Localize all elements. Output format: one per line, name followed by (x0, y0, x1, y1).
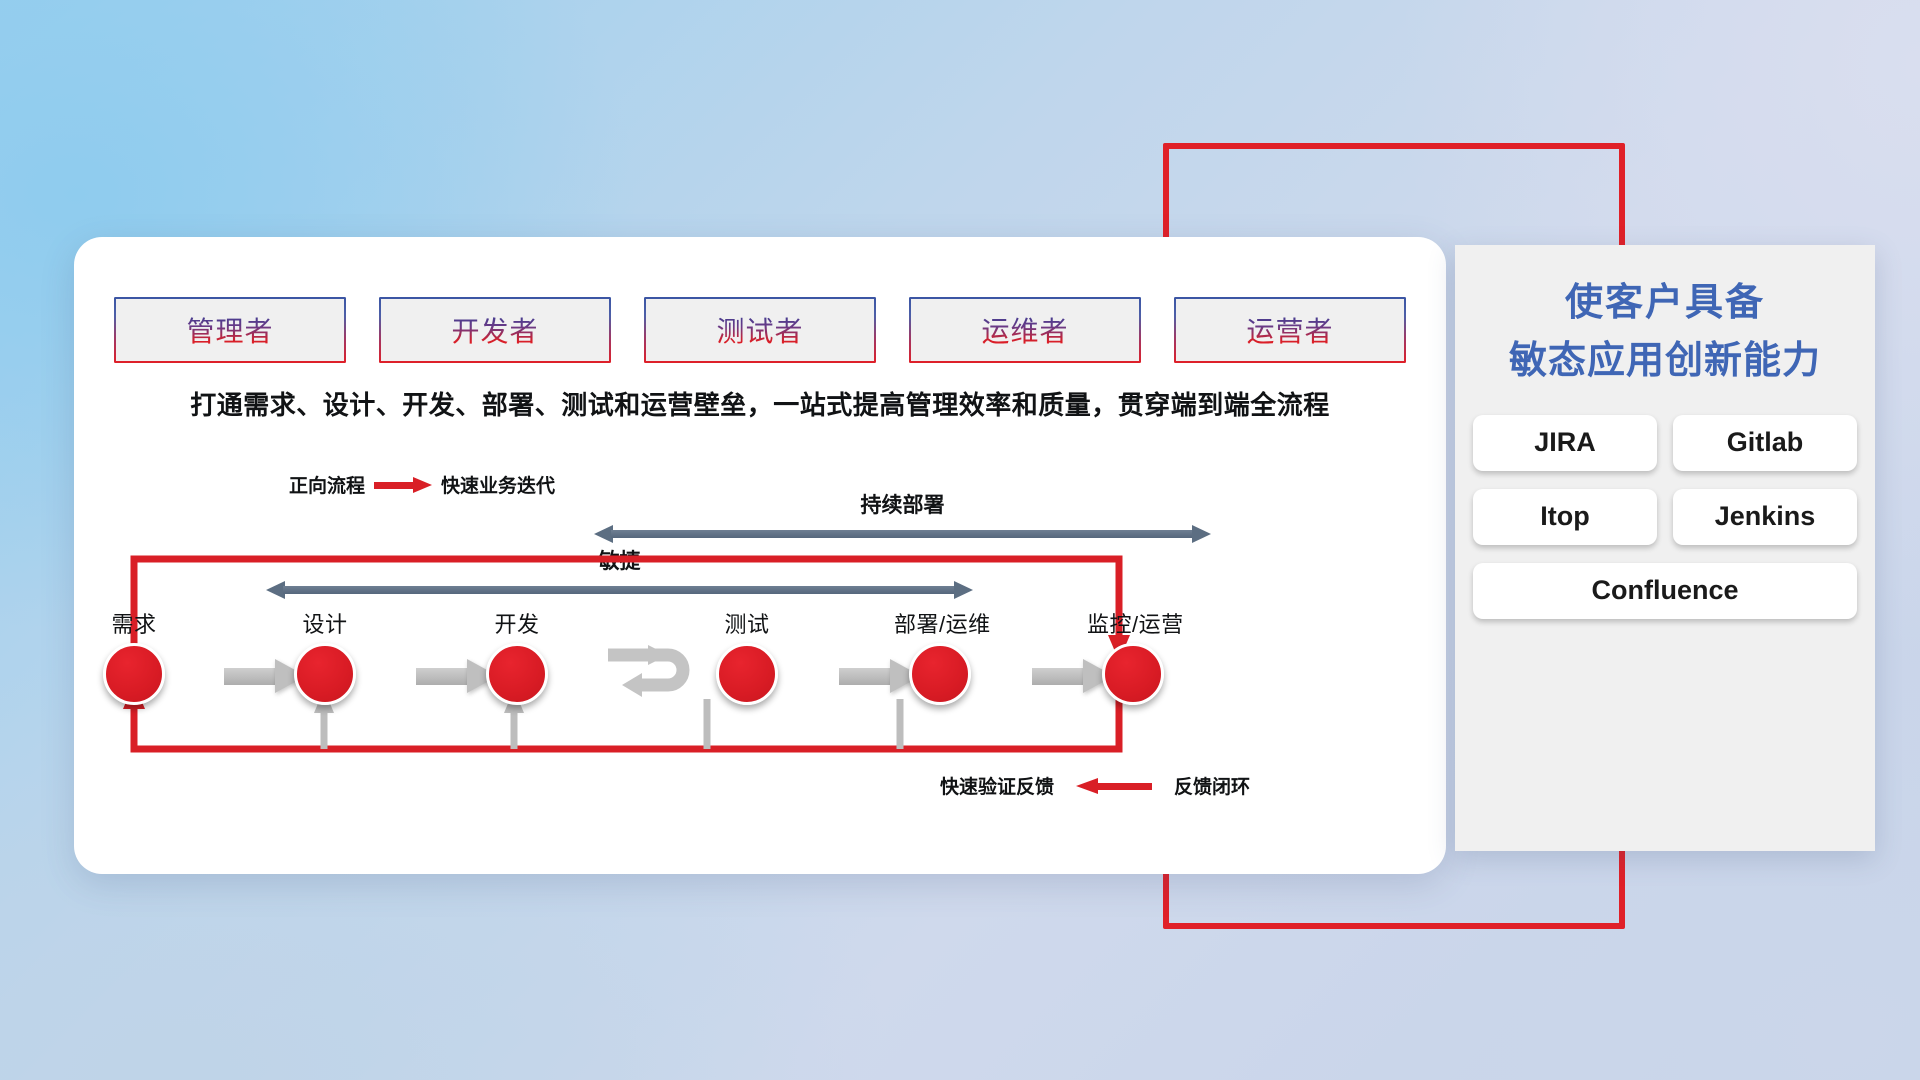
legend-feedback-source: 反馈闭环 (1174, 772, 1250, 799)
role-label: 开发者 (451, 310, 538, 350)
tool-pill-confluence[interactable]: Confluence (1473, 563, 1857, 619)
pipeline-row: 需求 设计 开发 (114, 607, 1406, 737)
role-box-operations[interactable]: 运营者 (1174, 297, 1406, 363)
main-content-card: 管理者 开发者 测试者 运维者 运营者 打通需求、设计、开发、部署、测试和运营壁… (74, 237, 1446, 874)
role-label: 测试者 (716, 310, 803, 350)
arrow-shaft (1032, 668, 1084, 685)
outcome-panel: 使客户具备 敏态应用创新能力 JIRA Gitlab Itop Jenkins … (1455, 245, 1875, 851)
node-dot (716, 643, 778, 705)
span-label-agile: 敏捷 (266, 545, 973, 575)
arrow-shaft (611, 530, 1194, 538)
pipeline-node-testing[interactable]: 测试 (701, 607, 793, 705)
node-dot (1102, 643, 1164, 705)
tool-pill-gitlab[interactable]: Gitlab (1673, 415, 1857, 471)
double-arrow-agile (266, 581, 973, 599)
role-box-ops[interactable]: 运维者 (909, 297, 1141, 363)
legend-forward-flow: 正向流程 快速业务迭代 (289, 471, 555, 498)
role-boxes-row: 管理者 开发者 测试者 运维者 运营者 (114, 297, 1406, 363)
node-dot (294, 643, 356, 705)
arrow-head-right-icon (954, 581, 973, 599)
pipeline-node-deploy-ops[interactable]: 部署/运维 (894, 607, 986, 705)
tool-pill-jira[interactable]: JIRA (1473, 415, 1657, 471)
headline-text: 打通需求、设计、开发、部署、测试和运营壁垒，一站式提高管理效率和质量，贯穿端到端… (74, 385, 1446, 422)
node-label: 设计 (279, 607, 371, 639)
arrow-right-red-icon (374, 477, 432, 493)
node-label: 部署/运维 (894, 607, 986, 639)
arrow-head-right-icon (1192, 525, 1211, 543)
pipeline-node-design[interactable]: 设计 (279, 607, 371, 705)
legend-forward-source: 正向流程 (289, 471, 365, 498)
role-label: 管理者 (186, 310, 273, 350)
arrow-left-red-icon (1076, 778, 1152, 794)
node-label: 开发 (471, 607, 563, 639)
role-box-tester[interactable]: 测试者 (644, 297, 876, 363)
outcome-title-line-1: 使客户具备 (1455, 275, 1875, 333)
tool-pill-itop[interactable]: Itop (1473, 489, 1657, 545)
role-box-developer[interactable]: 开发者 (379, 297, 611, 363)
node-dot (909, 643, 971, 705)
span-label-continuous-deployment: 持续部署 (594, 489, 1211, 519)
role-box-manager[interactable]: 管理者 (114, 297, 346, 363)
legend-feedback-target: 快速验证反馈 (940, 772, 1054, 799)
node-label: 需求 (88, 607, 180, 639)
node-dot (486, 643, 548, 705)
arrow-shaft (416, 668, 468, 685)
pipeline-node-requirements[interactable]: 需求 (88, 607, 180, 705)
arrow-shaft (839, 668, 891, 685)
pipeline-node-development[interactable]: 开发 (471, 607, 563, 705)
double-arrow-continuous-deployment (594, 525, 1211, 543)
node-label: 测试 (701, 607, 793, 639)
legend-forward-target: 快速业务迭代 (441, 471, 555, 498)
tool-pill-jenkins[interactable]: Jenkins (1673, 489, 1857, 545)
node-dot (103, 643, 165, 705)
arrow-shaft (283, 586, 956, 594)
pipeline-node-monitor-operations[interactable]: 监控/运营 (1087, 607, 1179, 705)
legend-feedback-loop: 快速验证反馈 反馈闭环 (940, 772, 1250, 799)
role-label: 运维者 (981, 310, 1068, 350)
slide-canvas: 管理者 开发者 测试者 运维者 运营者 打通需求、设计、开发、部署、测试和运营壁… (0, 0, 1920, 1080)
node-label: 监控/运营 (1087, 607, 1179, 639)
tool-pill-grid: JIRA Gitlab Itop Jenkins Confluence (1473, 415, 1857, 619)
outcome-panel-title: 使客户具备 敏态应用创新能力 (1455, 275, 1875, 391)
role-label: 运营者 (1246, 310, 1333, 350)
arrow-shaft (224, 668, 276, 685)
iteration-loop-arrow-icon (606, 639, 702, 701)
outcome-title-line-2: 敏态应用创新能力 (1455, 333, 1875, 391)
